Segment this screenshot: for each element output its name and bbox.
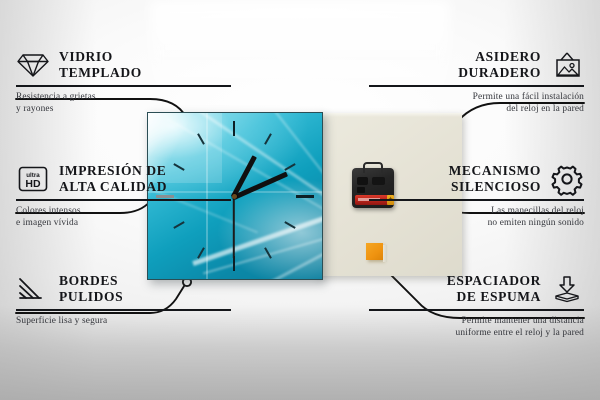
infographic-canvas: + (0, 0, 600, 400)
feature-title-line2: PULIDOS (59, 289, 123, 305)
feature-desc-line2: del reloj en la pared (369, 103, 584, 115)
feature-impresion-alta-calidad: ultra HD IMPRESIÓN DE ALTA CALIDAD Color… (16, 162, 231, 229)
feature-title-line2: DE ESPUMA (447, 289, 541, 305)
movement-slot (357, 187, 365, 193)
foam-spacer (366, 243, 383, 260)
feature-desc-line2: uniforme entre el reloj y la pared (369, 327, 584, 339)
feature-vidrio-templado: VIDRIO TEMPLADO Resistencia a grietas y … (16, 48, 231, 115)
feature-desc-line1: Resistencia a grietas (16, 91, 231, 103)
feature-title-line2: DURADERO (458, 65, 541, 81)
feature-description: Colores intensos e imagen vívida (16, 205, 231, 230)
feature-description: Permite una fácil instalación del reloj … (369, 91, 584, 116)
diamond-icon (16, 48, 50, 82)
feature-divider (16, 309, 231, 311)
feature-desc-line2: e imagen vívida (16, 217, 231, 229)
feature-description: Resistencia a grietas y rayones (16, 91, 231, 116)
feature-title-line1: IMPRESIÓN DE (59, 163, 167, 179)
movement-slot (357, 177, 368, 185)
feature-title: MECANISMO SILENCIOSO (449, 163, 541, 195)
polished-edges-icon (16, 272, 50, 306)
feature-desc-line1: Colores intensos (16, 205, 231, 217)
feature-title: ESPACIADOR DE ESPUMA (447, 273, 541, 305)
feature-description: Superficie lisa y segura (16, 315, 231, 327)
feature-desc-line1: Permite una fácil instalación (369, 91, 584, 103)
feature-divider (16, 199, 231, 201)
feature-title-line1: ESPACIADOR (447, 273, 541, 289)
feature-bordes-pulidos: BORDES PULIDOS Superficie lisa y segura (16, 272, 231, 327)
gear-icon (550, 162, 584, 196)
feature-desc-line1: Las manecillas del reloj (369, 205, 584, 217)
feature-title: BORDES PULIDOS (59, 273, 123, 305)
feature-divider (16, 85, 231, 87)
feature-title: VIDRIO TEMPLADO (59, 49, 142, 81)
feature-title: ASIDERO DURADERO (458, 49, 541, 81)
feature-divider (369, 85, 584, 87)
clock-tick-3 (296, 195, 314, 198)
hd-icon-main-text: HD (25, 178, 41, 190)
foam-spacer-side (383, 245, 387, 262)
feature-desc-line1: Permite mantener una distancia (369, 315, 584, 327)
clock-tick-12 (233, 121, 235, 136)
feature-title-line1: MECANISMO (449, 163, 541, 179)
feature-desc-line2: y rayones (16, 103, 231, 115)
clock-second-hand (233, 197, 235, 259)
feature-title-line2: TEMPLADO (59, 65, 142, 81)
feature-divider (369, 199, 584, 201)
feature-espaciador-espuma: ESPACIADOR DE ESPUMA Permite mantener un… (369, 272, 584, 339)
feature-desc-line2: no emiten ningún sonido (369, 217, 584, 229)
picture-hanger-icon (550, 48, 584, 82)
foam-spacer-icon (550, 272, 584, 306)
feature-title-line1: ASIDERO (458, 49, 541, 65)
feature-asidero-duradero: ASIDERO DURADERO Permite una fácil insta… (369, 48, 584, 115)
feature-title-line1: VIDRIO (59, 49, 142, 65)
feature-title-line1: BORDES (59, 273, 123, 289)
feature-divider (369, 309, 584, 311)
feature-mecanismo-silencioso: MECANISMO SILENCIOSO Las manecillas del … (369, 162, 584, 229)
feature-desc-line1: Superficie lisa y segura (16, 315, 231, 327)
feature-title-line2: SILENCIOSO (449, 179, 541, 195)
feature-description: Las manecillas del reloj no emiten ningú… (369, 205, 584, 230)
feature-title-line2: ALTA CALIDAD (59, 179, 167, 195)
clock-center-cap (232, 194, 237, 199)
feature-title: IMPRESIÓN DE ALTA CALIDAD (59, 163, 167, 195)
feature-description: Permite mantener una distancia uniforme … (369, 315, 584, 340)
ultra-hd-icon: ultra HD (16, 162, 50, 196)
